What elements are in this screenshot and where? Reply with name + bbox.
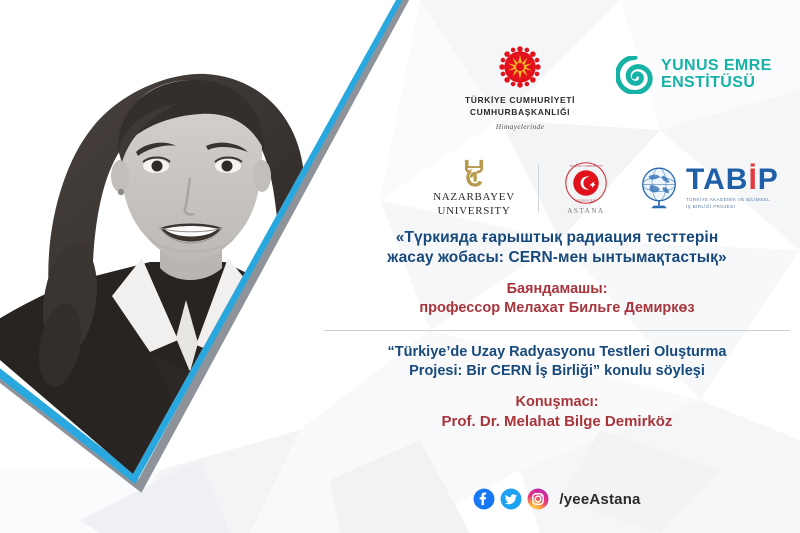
tabip-logo: TABİP TÜRKİYE AKADEMİK VE BİLİMSEL İŞ Bİ… [637, 165, 779, 211]
svg-text:BÜYÜKELÇİLİĞİ: BÜYÜKELÇİLİĞİ [575, 198, 597, 202]
turkish-embassy-seal-icon: TÜRKİYE CUMHURİYETİ BÜYÜKELÇİLİĞİ [564, 161, 608, 205]
turkish-speaker-name: Prof. Dr. Melahat Bilge Demirköz [318, 412, 796, 432]
presidency-script-text: Himayelerinde [496, 122, 544, 131]
section-divider [324, 330, 790, 331]
nazarbayev-line2: UNIVERSITY [433, 205, 515, 219]
tabip-globe-icon [637, 165, 681, 211]
turkish-presidency-sun-seal-icon [497, 44, 543, 90]
turkish-embassy-logo: TÜRKİYE CUMHURİYETİ BÜYÜKELÇİLİĞİ ASTANA [549, 161, 623, 215]
nazarbayev-line1: NAZARBAYEV [433, 191, 515, 205]
social-media-row: /yeeAstana [318, 488, 796, 510]
tabip-sub1: TÜRKİYE AKADEMİK VE BİLİMSEL [686, 197, 779, 204]
kazakh-title: «Түркияда ғарыштық радиация тесттерін жа… [318, 228, 796, 269]
turkish-title-line2: Projesi: Bir CERN İş Birliği” konulu söy… [318, 362, 796, 382]
turkish-title: “Türkiye’de Uzay Radyasyonu Testleri Olu… [318, 343, 796, 382]
social-handle[interactable]: /yeeAstana [559, 491, 640, 508]
yunus-emre-line2: ENSTİTÜSÜ [661, 75, 772, 92]
event-poster: TÜRKİYE CUMHURİYETİ CUMHURBAŞKANLIĞI Him… [0, 0, 800, 533]
tabip-wordmark-part2: P [758, 163, 779, 196]
turkish-role-label: Konuşmacı: [318, 393, 796, 412]
instagram-icon[interactable] [527, 488, 549, 510]
tabip-wordmark-accent: İ [748, 163, 757, 196]
yunus-emre-line1: YUNUS EMRE [661, 58, 772, 75]
svg-text:TÜRKİYE CUMHURİYETİ: TÜRKİYE CUMHURİYETİ [569, 164, 602, 168]
logo-row-bottom: NAZARBAYEV UNIVERSITY TÜRKİYE CUMHURİYET… [420, 152, 795, 224]
nazarbayev-university-emblem-icon [460, 158, 488, 188]
logo-divider [538, 164, 539, 212]
tabip-sub2: İŞ BİRLİĞİ PROJESİ [686, 204, 779, 211]
presidency-line1: TÜRKİYE CUMHURİYETİ [465, 94, 575, 106]
kazakh-speaker-name: профессор Мелахат Бильге Демиркөз [318, 299, 796, 318]
turkish-presidency-logo: TÜRKİYE CUMHURİYETİ CUMHURBAŞKANLIĞI Him… [430, 44, 610, 131]
kazakh-title-line2: жасау жобасы: CERN-мен ынтымақтастық» [318, 248, 796, 268]
twitter-icon[interactable] [500, 488, 522, 510]
turkish-title-line1: “Türkiye’de Uzay Radyasyonu Testleri Olu… [318, 343, 796, 363]
yunus-emre-logo: YUNUS EMRE ENSTİTÜSÜ [616, 56, 772, 94]
tabip-wordmark-part1: TAB [686, 163, 748, 196]
nazarbayev-university-logo: NAZARBAYEV UNIVERSITY [420, 158, 528, 219]
logo-row-top: TÜRKİYE CUMHURİYETİ CUMHURBAŞKANLIĞI Him… [430, 44, 790, 136]
facebook-icon[interactable] [473, 488, 495, 510]
kazakh-role-label: Баяндамашы: [318, 280, 796, 299]
presidency-line2: CUMHURBAŞKANLIĞI [465, 106, 575, 118]
event-text-block: «Түркияда ғарыштық радиация тесттерін жа… [318, 228, 796, 431]
yunus-emre-spiral-mark-icon [616, 56, 654, 94]
kazakh-title-line1: «Түркияда ғарыштық радиация тесттерін [318, 228, 796, 248]
tabip-wordmark: TABİP [686, 165, 779, 195]
embassy-city: ASTANA [567, 207, 604, 215]
